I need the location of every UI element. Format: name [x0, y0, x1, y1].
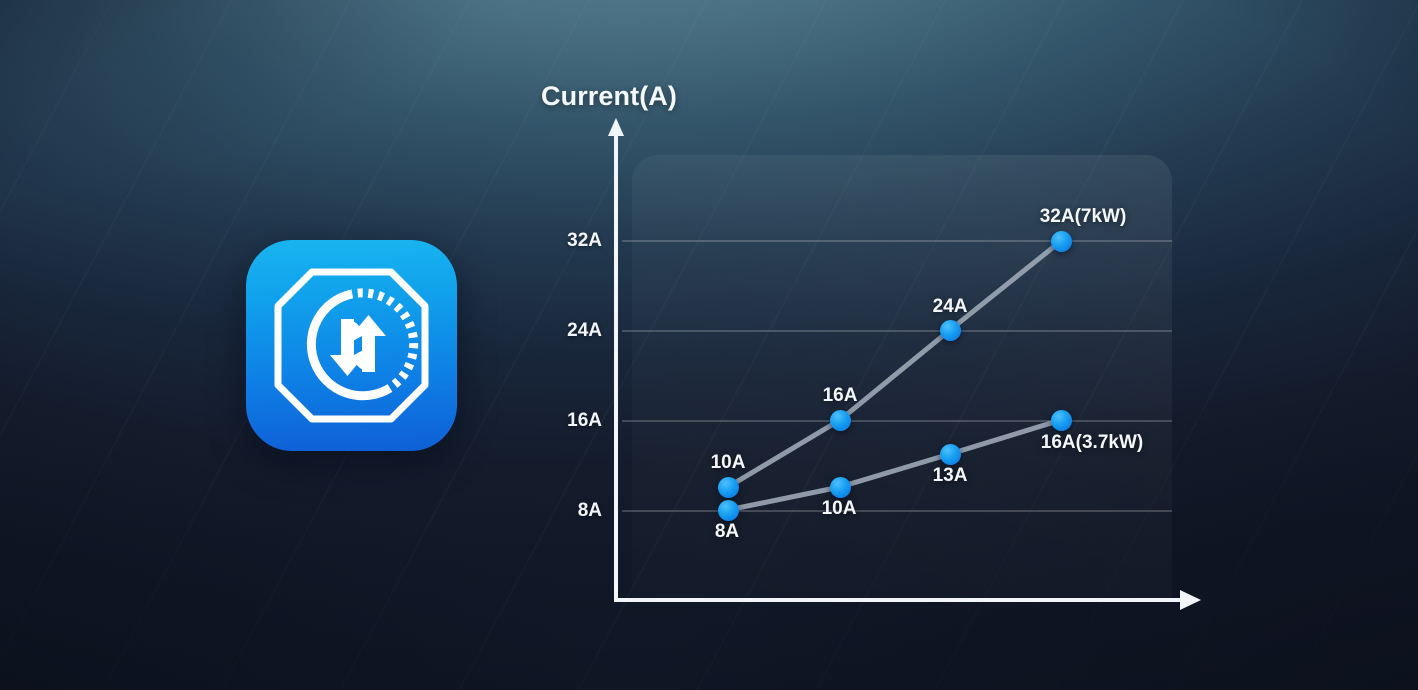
- data-point[interactable]: [1051, 231, 1072, 252]
- point-label: 16A: [823, 385, 858, 407]
- point-label: 16A(3.7kW): [1041, 432, 1143, 454]
- y-axis-arrow-icon: [608, 118, 624, 136]
- chart-svg: [0, 0, 1418, 690]
- data-point[interactable]: [718, 500, 739, 521]
- screenshot-root: Current(A) 32A 24A 16A 8A: [0, 0, 1418, 690]
- point-label: 10A: [822, 498, 857, 520]
- point-label: 10A: [711, 452, 746, 474]
- data-point[interactable]: [718, 477, 739, 498]
- point-label: 8A: [715, 521, 739, 543]
- point-label: 32A(7kW): [1040, 206, 1127, 228]
- x-axis-arrow-icon: [1180, 590, 1201, 610]
- data-point[interactable]: [940, 320, 961, 341]
- point-label: 13A: [933, 465, 968, 487]
- data-point[interactable]: [1051, 410, 1072, 431]
- series-line-3-7kw: [728, 420, 1061, 510]
- current-chart: Current(A) 32A 24A 16A 8A: [0, 0, 1418, 690]
- data-point[interactable]: [830, 410, 851, 431]
- series-line-7kw: [728, 241, 1061, 487]
- data-point[interactable]: [940, 444, 961, 465]
- point-label: 24A: [933, 296, 968, 318]
- data-point[interactable]: [830, 477, 851, 498]
- axis-lines: [616, 131, 1188, 600]
